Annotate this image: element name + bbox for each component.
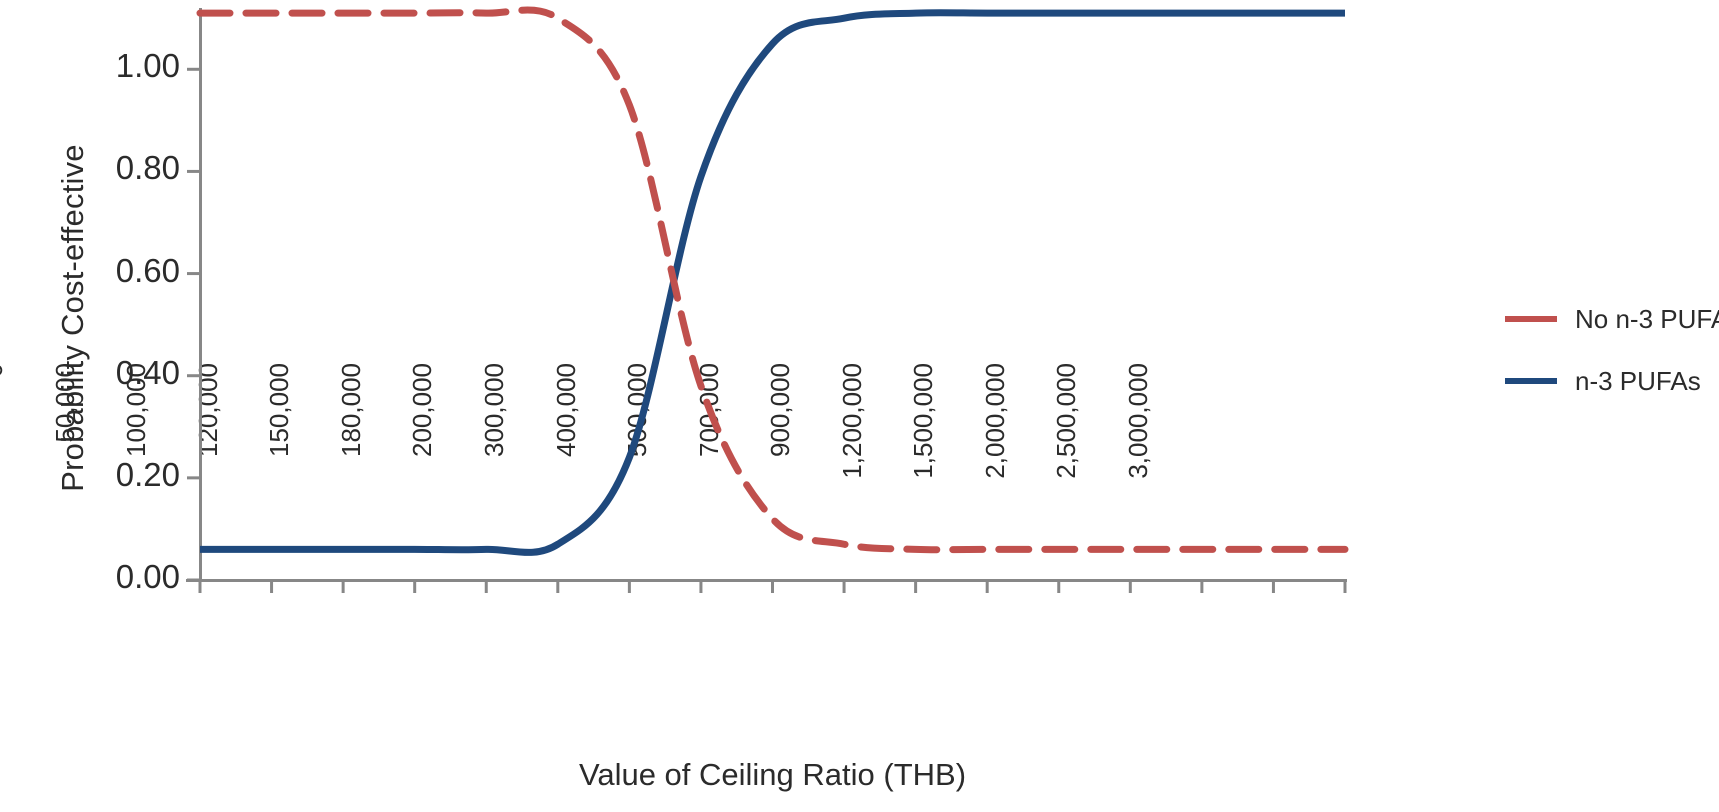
plot-area [0, 0, 1719, 812]
chart-legend: No n-3 PUFAsn-3 PUFAs [1505, 288, 1719, 412]
series-line-no-n3-pufas [200, 13, 1345, 553]
legend-item[interactable]: No n-3 PUFAs [1505, 288, 1719, 350]
y-axis-ticks [187, 69, 200, 580]
cost-effectiveness-acceptability-chart: Probability Cost-effective 0.000.200.400… [0, 0, 1719, 812]
legend-swatch-dashed-icon [1505, 316, 1557, 322]
legend-label: No n-3 PUFAs [1575, 304, 1719, 335]
legend-item[interactable]: n-3 PUFAs [1505, 350, 1719, 412]
legend-label: n-3 PUFAs [1575, 366, 1701, 397]
x-axis-title: Value of Ceiling Ratio (THB) [200, 757, 1345, 793]
series-line-n3-pufas [200, 10, 1345, 550]
legend-swatch-solid-icon [1505, 378, 1557, 384]
